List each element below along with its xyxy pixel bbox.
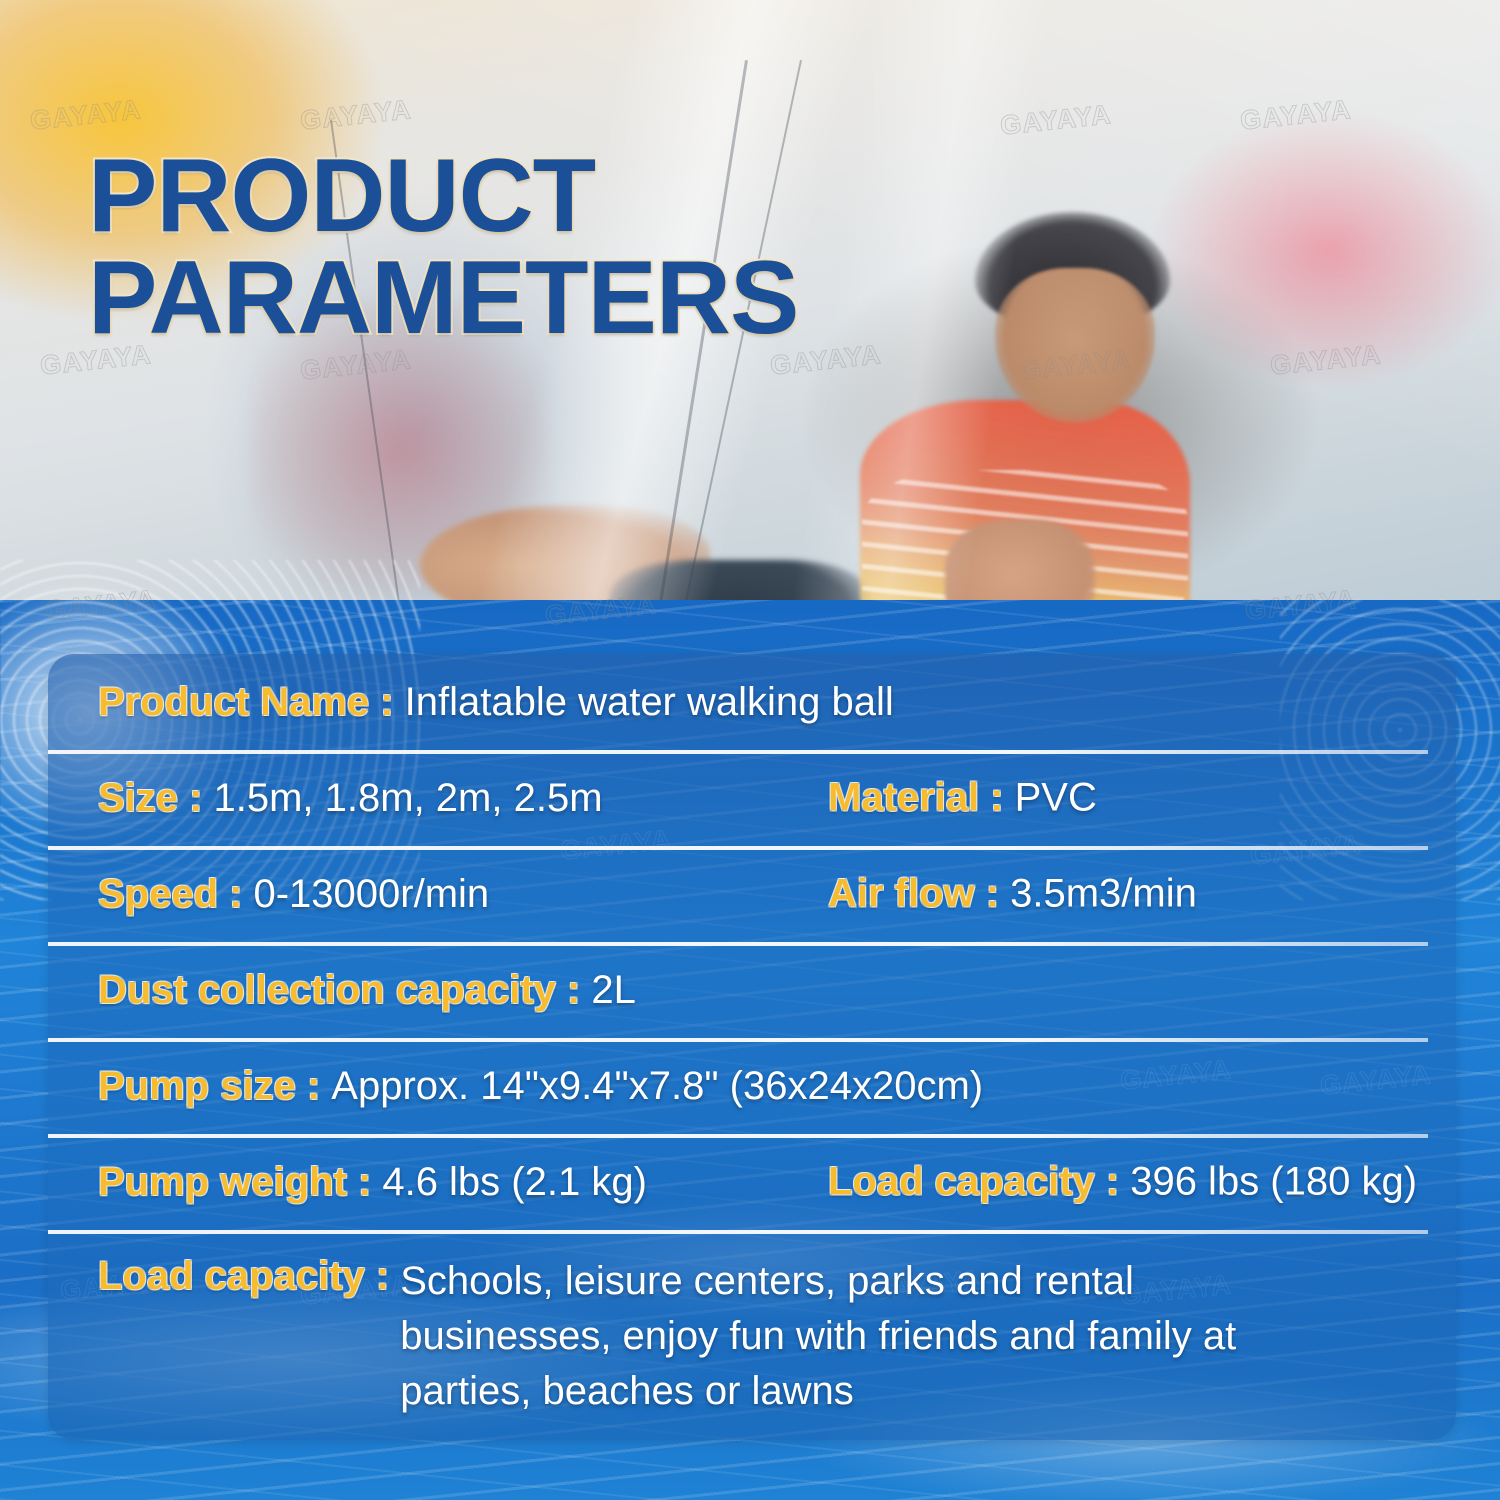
spec-value: Schools, leisure centers, parks and rent…	[400, 1254, 1300, 1420]
spec-cell-pump-weight: Pump weight : 4.6 lbs (2.1 kg)	[98, 1160, 647, 1205]
spec-label: Load capacity :	[828, 1160, 1119, 1205]
spec-label: Size :	[98, 776, 202, 821]
page-title-line-2: PARAMETERS	[88, 248, 988, 350]
spec-label: Pump size :	[98, 1064, 320, 1109]
spec-label: Material :	[828, 776, 1004, 821]
table-row: Pump size : Approx. 14"x9.4"x7.8" (36x24…	[48, 1038, 1456, 1134]
table-row: Load capacity : Schools, leisure centers…	[48, 1230, 1456, 1440]
spec-cell-material: Material : PVC	[828, 776, 1097, 821]
spec-cell-application: Load capacity : Schools, leisure centers…	[98, 1254, 1300, 1420]
spec-value: Inflatable water walking ball	[405, 680, 894, 725]
spec-value: 396 lbs (180 kg)	[1130, 1160, 1417, 1205]
spec-value: 1.5m, 1.8m, 2m, 2.5m	[213, 776, 602, 821]
spec-value: 3.5m3/min	[1010, 872, 1197, 917]
spec-value: PVC	[1015, 776, 1097, 821]
table-row: Pump weight : 4.6 lbs (2.1 kg) Load capa…	[48, 1134, 1456, 1230]
specification-panel: Product Name : Inflatable water walking …	[48, 654, 1456, 1440]
spec-label: Air flow :	[828, 872, 999, 917]
spec-cell-product-name: Product Name : Inflatable water walking …	[98, 680, 894, 725]
table-row: Size : 1.5m, 1.8m, 2m, 2.5m Material : P…	[48, 750, 1456, 846]
spec-label: Product Name :	[98, 680, 394, 725]
product-parameters-infographic: GAYAYA GAYAYA GAYAYA GAYAYA GAYAYA GAYAY…	[0, 0, 1500, 1500]
spec-cell-pump-size: Pump size : Approx. 14"x9.4"x7.8" (36x24…	[98, 1064, 983, 1109]
spec-value: Approx. 14"x9.4"x7.8" (36x24x20cm)	[331, 1064, 983, 1109]
page-title: PRODUCT PARAMETERS	[88, 146, 988, 350]
spec-label: Dust collection capacity :	[98, 968, 580, 1013]
spec-label: Load capacity :	[98, 1254, 389, 1299]
spec-cell-speed: Speed : 0-13000r/min	[98, 872, 489, 917]
table-row: Product Name : Inflatable water walking …	[48, 654, 1456, 750]
spec-cell-size: Size : 1.5m, 1.8m, 2m, 2.5m	[98, 776, 603, 821]
table-row: Dust collection capacity : 2L	[48, 942, 1456, 1038]
page-title-line-1: PRODUCT	[88, 146, 988, 248]
spec-value: 0-13000r/min	[253, 872, 489, 917]
spec-cell-air-flow: Air flow : 3.5m3/min	[828, 872, 1197, 917]
spec-value: 2L	[591, 968, 636, 1013]
spec-value: 4.6 lbs (2.1 kg)	[382, 1160, 647, 1205]
table-row: Speed : 0-13000r/min Air flow : 3.5m3/mi…	[48, 846, 1456, 942]
spec-cell-load-capacity: Load capacity : 396 lbs (180 kg)	[828, 1160, 1417, 1205]
spec-label: Pump weight :	[98, 1160, 371, 1205]
spec-cell-dust-collection-capacity: Dust collection capacity : 2L	[98, 968, 636, 1013]
spec-label: Speed :	[98, 872, 242, 917]
